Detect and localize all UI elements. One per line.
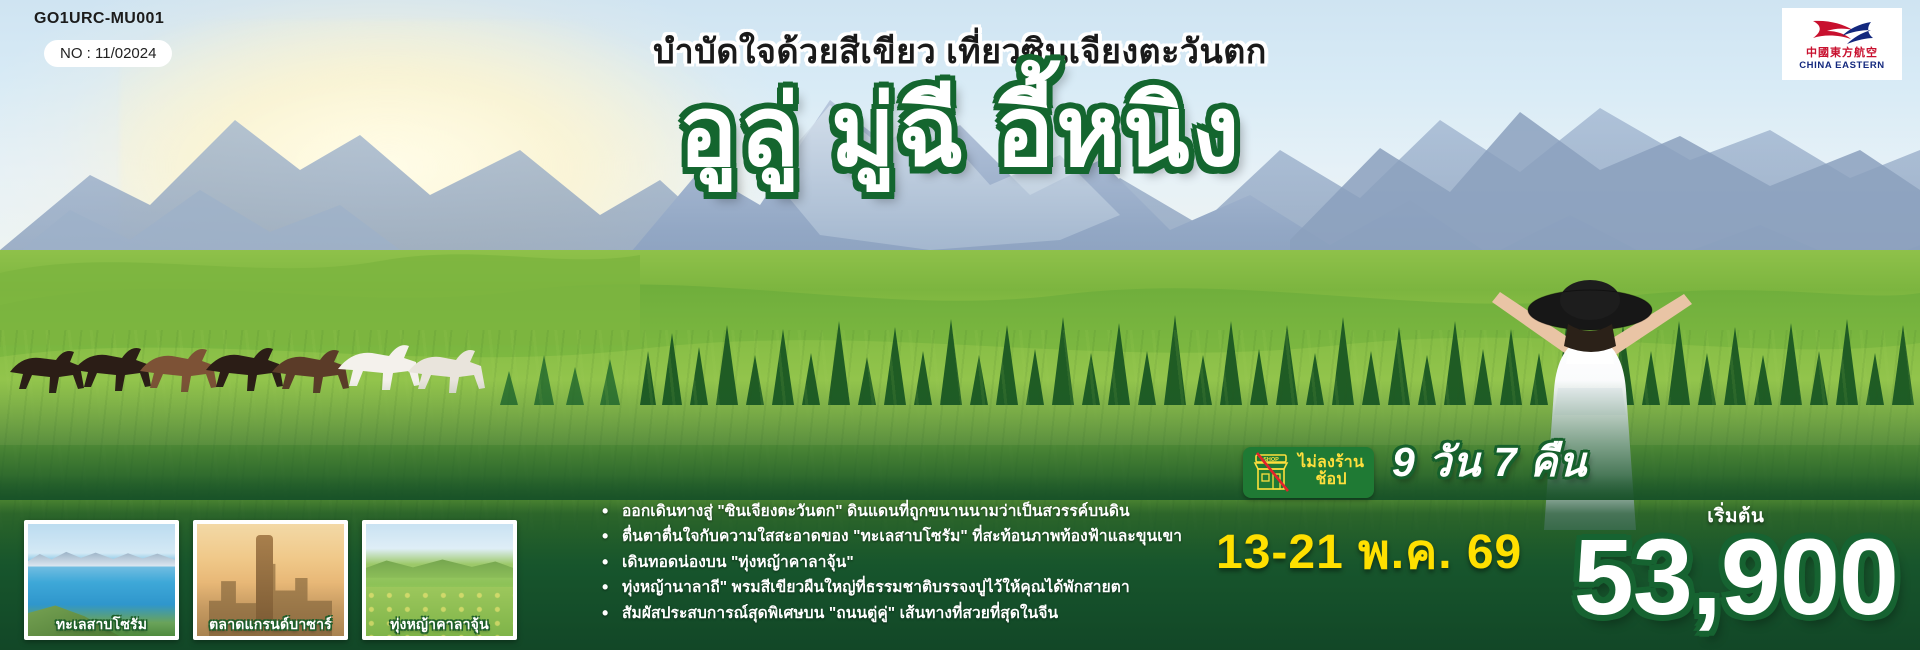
- no-shop-line1: ไม่ลงร้าน: [1298, 455, 1364, 472]
- thumbnail-caption: ทะเลสาบโซรัม: [24, 614, 179, 636]
- thumbnail-card[interactable]: ทุ่งหญ้าคาลาจุ้น: [362, 520, 517, 640]
- list-item: ตื่นตาตื่นใจกับความใสสะอาดของ "ทะเลสาบโซ…: [600, 526, 1260, 548]
- trip-duration: 9 วัน 7 คืน: [1392, 430, 1587, 495]
- no-shop-badge: SHOP ไม่ลงร้าน ช้อป: [1243, 447, 1374, 498]
- travel-promo-banner: GO1URC-MU001 NO : 11/02024 中國東方航空 CHINA …: [0, 0, 1920, 650]
- price-value: 53,900: [1574, 527, 1898, 626]
- no-shop-icon: SHOP: [1251, 452, 1291, 492]
- travel-dates: 13-21 พ.ค. 69: [1216, 514, 1522, 590]
- list-item: ทุ่งหญ้านาลาถี" พรมสีเขียวผืนใหญ่ที่ธรรม…: [600, 577, 1260, 599]
- thumbnail-caption: ตลาดแกรนด์บาซาร์: [193, 614, 348, 636]
- list-item: ออกเดินทางสู่ "ซินเจียงตะวันตก" ดินแดนที…: [600, 501, 1260, 523]
- price-block: เริ่มต้น 53,900: [1574, 501, 1898, 626]
- banner-title: อูลู่ มู่ฉี อี้หนิง: [0, 78, 1920, 186]
- thumbnail-card[interactable]: ตลาดแกรนด์บาซาร์: [193, 520, 348, 640]
- thumbnail-caption: ทุ่งหญ้าคาลาจุ้น: [362, 614, 517, 636]
- list-item: สัมผัสประสบการณ์สุดพิเศษบน "ถนนตู่คู่" เ…: [600, 603, 1260, 625]
- thumbnail-card[interactable]: ทะเลสาบโซรัม: [24, 520, 179, 640]
- banner-subtitle: บำบัดใจด้วยสีเขียว เที่ยวซินเจียงตะวันตก: [0, 24, 1920, 78]
- destination-thumbnails: ทะเลสาบโซรัม ตลาดแกรนด์บาซาร์ ทุ่งหญ้าคา…: [24, 520, 517, 640]
- highlights-list: ออกเดินทางสู่ "ซินเจียงตะวันตก" ดินแดนที…: [600, 501, 1260, 629]
- no-shop-line2: ช้อป: [1315, 472, 1346, 489]
- no-shop-label: ไม่ลงร้าน ช้อป: [1298, 455, 1364, 489]
- list-item: เดินทอดน่องบน "ทุ่งหญ้าคาลาจุ้น": [600, 552, 1260, 574]
